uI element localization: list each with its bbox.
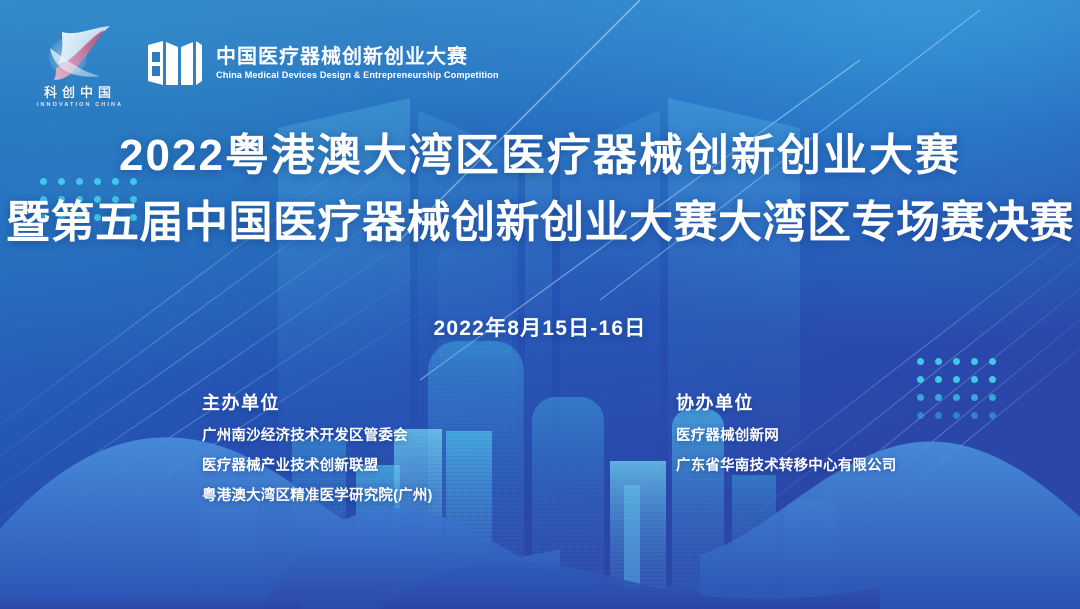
event-poster: 科创中国 INNOVATION CHINA bbox=[0, 0, 1080, 609]
co-host-heading: 协办单位 bbox=[676, 389, 897, 415]
innovation-china-cn: 科创中国 bbox=[34, 86, 126, 99]
innovation-china-en: INNOVATION CHINA bbox=[34, 102, 126, 108]
open-book-gate-icon bbox=[146, 36, 204, 90]
host-organizers: 主办单位 广州南沙经济技术开发区管委会 医疗器械产业技术创新联盟 粤港澳大湾区精… bbox=[202, 389, 433, 505]
host-heading: 主办单位 bbox=[202, 389, 433, 415]
competition-logo: 中国医疗器械创新创业大赛 China Medical Devices Desig… bbox=[146, 36, 499, 90]
logo-bar: 科创中国 INNOVATION CHINA bbox=[34, 24, 499, 102]
competition-title-cn: 中国医疗器械创新创业大赛 bbox=[216, 46, 499, 68]
co-host-item: 医疗器械创新网 bbox=[676, 424, 897, 445]
event-date: 2022年8月15日-16日 bbox=[0, 312, 1080, 342]
title-line-1: 2022粤港澳大湾区医疗器械创新创业大赛 bbox=[0, 128, 1080, 183]
co-host-item: 广东省华南技术转移中心有限公司 bbox=[676, 454, 897, 475]
competition-title-en: China Medical Devices Design & Entrepren… bbox=[216, 71, 499, 80]
innovation-china-logo: 科创中国 INNOVATION CHINA bbox=[34, 24, 126, 102]
bird-mark-icon bbox=[34, 24, 126, 84]
title-line-2: 暨第五届中国医疗器械创新创业大赛大湾区专场赛决赛 bbox=[0, 195, 1080, 250]
host-item: 广州南沙经济技术开发区管委会 bbox=[202, 424, 433, 445]
host-item: 粤港澳大湾区精准医学研究院(广州) bbox=[202, 484, 433, 505]
page-title: 2022粤港澳大湾区医疗器械创新创业大赛 暨第五届中国医疗器械创新创业大赛大湾区… bbox=[0, 128, 1080, 250]
host-item: 医疗器械产业技术创新联盟 bbox=[202, 454, 433, 475]
co-host-organizers: 协办单位 医疗器械创新网 广东省华南技术转移中心有限公司 bbox=[676, 389, 897, 475]
